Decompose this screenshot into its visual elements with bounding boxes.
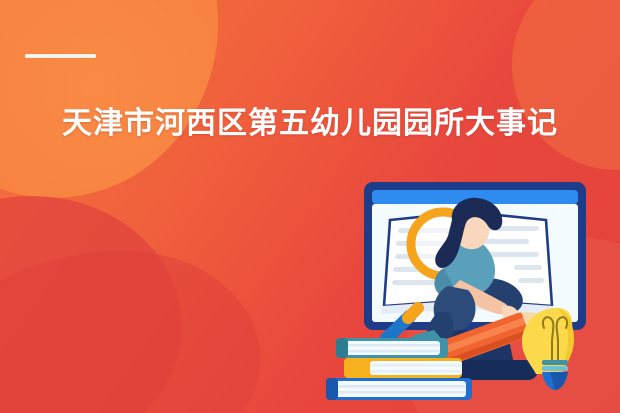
banner: 天津市河西区第五幼儿园园所大事记 [0,0,620,413]
decorative-circle-orange-top-right [512,0,620,170]
lightbulb-base [542,360,568,390]
decorative-circle-orange [0,0,218,198]
accent-rule [25,54,96,58]
page-title: 天津市河西区第五幼儿园园所大事记 [0,104,620,144]
book-stack-yellow [344,358,462,378]
decorative-wedge [0,217,283,413]
book-stack-blue [326,378,472,400]
book-stack-teal [336,338,448,358]
study-research-illustration [318,168,608,413]
magnifier-handle-collar [408,308,418,318]
